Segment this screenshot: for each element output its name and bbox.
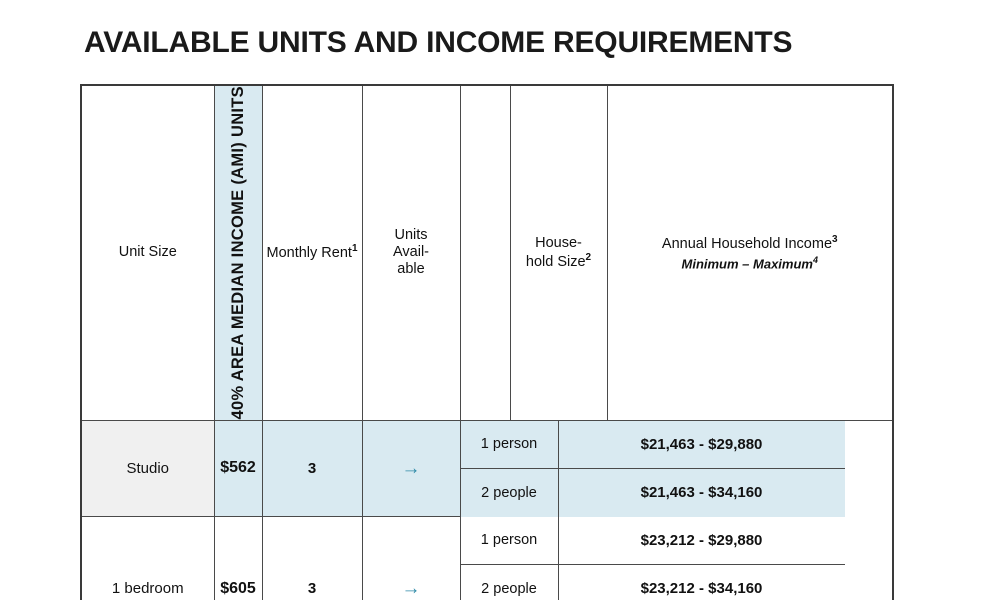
household-income-subtable: 1 person$21,463 - $29,8802 people$21,463… — [461, 421, 845, 517]
column-header-units-available: Units Avail- able — [362, 85, 460, 420]
monthly-rent-value: $605 — [220, 580, 256, 597]
units-available-value: 3 — [308, 460, 316, 477]
cell-household-size: 2 people — [461, 469, 559, 517]
column-header-units-available-line3: able — [397, 261, 424, 277]
household-row: 1 person$21,463 - $29,880 — [461, 421, 845, 469]
cell-unit-size: Studio — [81, 420, 214, 517]
cell-monthly-rent: $605 — [214, 517, 262, 600]
units-available-value: 3 — [308, 580, 316, 597]
cell-household-income-group: 1 person$23,212 - $29,8802 people$23,212… — [460, 517, 607, 600]
column-header-monthly-rent-label: Monthly Rent — [267, 245, 352, 261]
table-row: 1 bedroom$6053→1 person$23,212 - $29,880… — [81, 517, 893, 600]
column-header-units-available-line1: Units — [394, 227, 427, 243]
column-header-units-available-line2: Avail- — [393, 244, 429, 260]
column-header-unit-size-label: Unit Size — [119, 244, 177, 260]
unit-size-label: Studio — [126, 460, 169, 477]
page-title: AVAILABLE UNITS AND INCOME REQUIREMENTS — [84, 26, 792, 60]
table-body: Studio$5623→1 person$21,463 - $29,8802 p… — [81, 420, 893, 600]
monthly-rent-value: $562 — [220, 459, 256, 476]
footnote-marker-income-range: 4 — [813, 255, 818, 265]
column-header-monthly-rent: Monthly Rent1 — [262, 85, 362, 420]
cell-unit-size: 1 bedroom — [81, 517, 214, 600]
cell-units-available: 3 — [262, 420, 362, 517]
cell-annual-income-range: $23,212 - $29,880 — [558, 517, 845, 565]
footnote-marker-income: 3 — [832, 234, 838, 245]
units-income-table-container: Unit Size 40% AREA MEDIAN INCOME (AMI) U… — [80, 84, 892, 600]
arrow-right-icon: → — [402, 459, 421, 478]
household-income-subtable: 1 person$23,212 - $29,8802 people$23,212… — [461, 517, 845, 600]
household-row: 1 person$23,212 - $29,880 — [461, 517, 845, 565]
table-header-row: Unit Size 40% AREA MEDIAN INCOME (AMI) U… — [81, 85, 893, 420]
household-row: 2 people$23,212 - $34,160 — [461, 565, 845, 600]
cell-household-size: 2 people — [461, 565, 559, 600]
column-header-arrow-spacer — [460, 85, 510, 420]
page-root: AVAILABLE UNITS AND INCOME REQUIREMENTS … — [0, 0, 1000, 600]
table-row: Studio$5623→1 person$21,463 - $29,8802 p… — [81, 420, 893, 517]
cell-monthly-rent: $562 — [214, 420, 262, 517]
footnote-marker-rent: 1 — [352, 243, 358, 254]
column-header-household-size: House- hold Size2 — [510, 85, 607, 420]
household-row: 2 people$21,463 - $34,160 — [461, 469, 845, 517]
column-header-annual-income: Annual Household Income3 Minimum – Maxim… — [607, 85, 893, 420]
arrow-right-icon: → — [402, 579, 421, 598]
footnote-marker-household: 2 — [586, 252, 592, 263]
ami-band-label: 40% AREA MEDIAN INCOME (AMI) UNITS — [229, 86, 248, 420]
cell-annual-income-range: $21,463 - $29,880 — [558, 421, 845, 469]
cell-household-size: 1 person — [461, 421, 559, 469]
column-header-household-size-line1: House- — [535, 235, 582, 251]
cell-annual-income-range: $21,463 - $34,160 — [558, 469, 845, 517]
cell-annual-income-range: $23,212 - $34,160 — [558, 565, 845, 600]
unit-size-label: 1 bedroom — [112, 580, 184, 597]
column-header-household-size-line2: hold Size — [526, 254, 586, 270]
column-header-annual-income-subtitle: Minimum – Maximum4 — [608, 255, 893, 272]
units-income-table: Unit Size 40% AREA MEDIAN INCOME (AMI) U… — [80, 84, 894, 600]
cell-units-available: 3 — [262, 517, 362, 600]
ami-vertical-band: 40% AREA MEDIAN INCOME (AMI) UNITS — [214, 85, 262, 420]
cell-household-income-group: 1 person$21,463 - $29,8802 people$21,463… — [460, 420, 607, 517]
cell-household-size: 1 person — [461, 517, 559, 565]
column-header-unit-size: Unit Size — [81, 85, 214, 420]
table-header: Unit Size 40% AREA MEDIAN INCOME (AMI) U… — [81, 85, 893, 420]
column-header-annual-income-subtitle-text: Minimum – Maximum — [682, 256, 813, 271]
cell-arrow: → — [362, 420, 460, 517]
cell-arrow: → — [362, 517, 460, 600]
column-header-annual-income-label: Annual Household Income — [662, 236, 832, 252]
